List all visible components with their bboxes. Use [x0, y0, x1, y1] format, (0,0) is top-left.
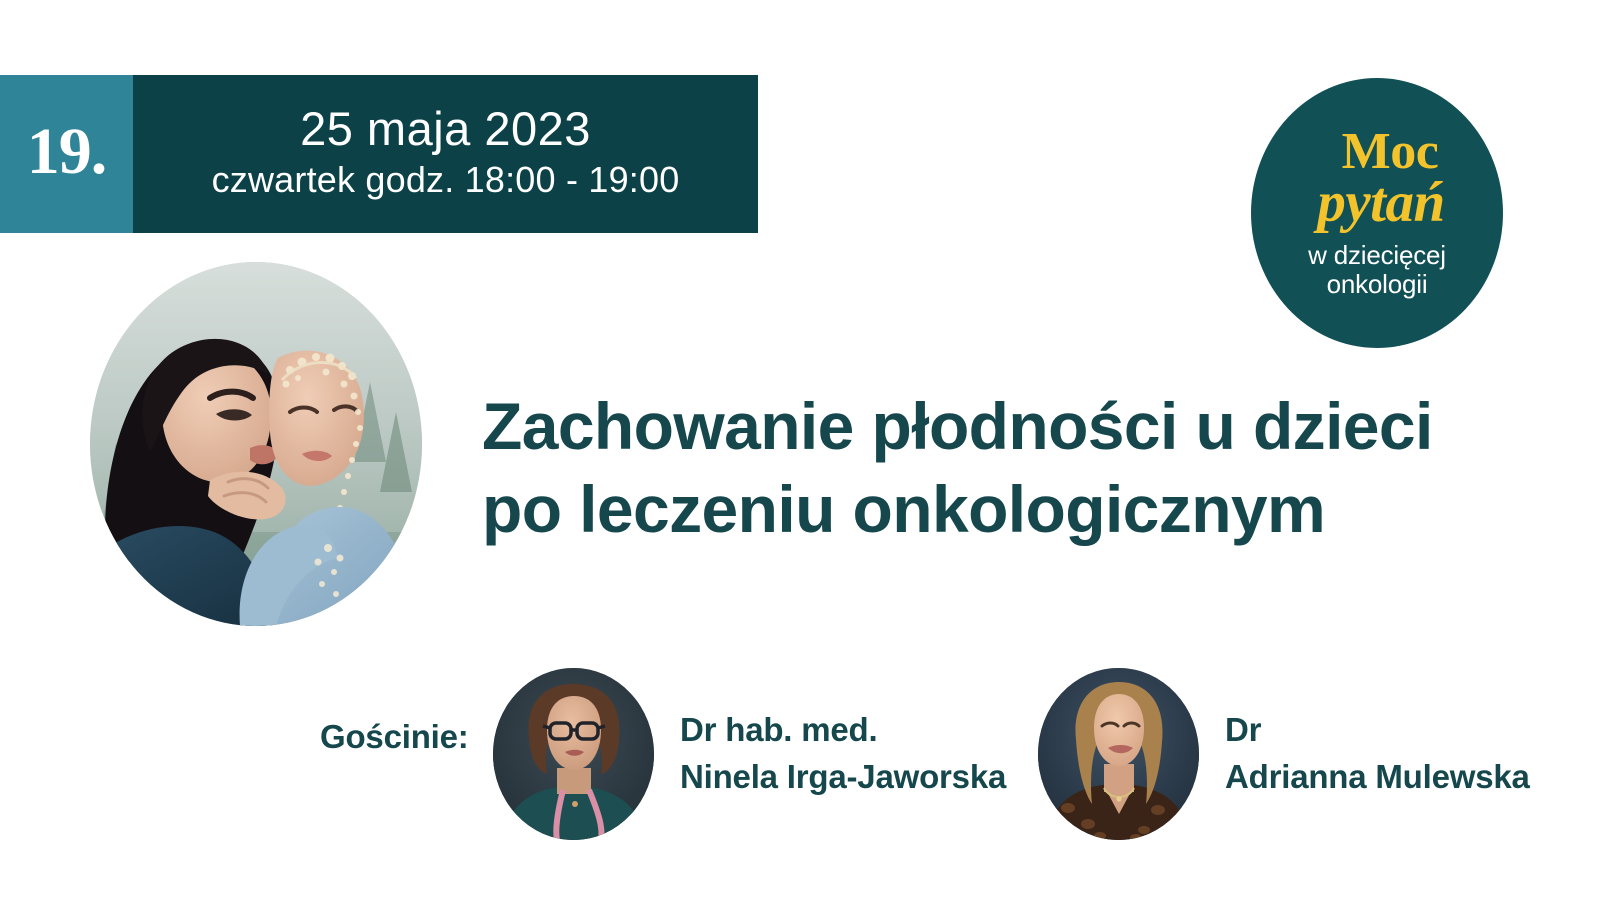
speaker-title-line: Dr hab. med.: [680, 707, 1006, 754]
brand-tagline-line-2: onkologii: [1327, 270, 1428, 299]
title-line-1: Zachowanie płodności u dzieci: [482, 385, 1542, 468]
page-title: Zachowanie płodności u dzieci po leczeni…: [482, 385, 1542, 550]
brand-word-moc: Moc: [1342, 127, 1439, 177]
avatar: [493, 668, 654, 840]
speaker-name: Dr Adrianna Mulewska: [1225, 707, 1530, 801]
title-line-2: po leczeniu onkologicznym: [482, 468, 1542, 551]
guests-label: Gościnie:: [320, 718, 469, 756]
speaker-name: Dr hab. med. Ninela Irga-Jaworska: [680, 707, 1006, 801]
hero-photo: [90, 262, 422, 626]
speaker-fullname-line: Ninela Irga-Jaworska: [680, 754, 1006, 801]
speaker-fullname-line: Adrianna Mulewska: [1225, 754, 1530, 801]
brand-word-pytan: pytań: [1317, 175, 1444, 231]
date-block: 25 maja 2023 czwartek godz. 18:00 - 19:0…: [133, 75, 758, 233]
date-banner: 19. 25 maja 2023 czwartek godz. 18:00 - …: [0, 75, 758, 233]
brand-tagline-line-1: w dziecięcej: [1308, 241, 1446, 270]
episode-number-badge: 19.: [0, 75, 133, 233]
speaker-entry: Dr hab. med. Ninela Irga-Jaworska: [493, 668, 1006, 840]
event-weekday-time: czwartek godz. 18:00 - 19:00: [212, 158, 680, 201]
speaker-title-line: Dr: [1225, 707, 1530, 754]
speaker-entry: Dr Adrianna Mulewska: [1038, 668, 1530, 840]
episode-number-text: 19.: [27, 119, 107, 185]
brand-logo: Moc pytań w dziecięcej onkologii: [1251, 78, 1503, 348]
webinar-poster: 19. 25 maja 2023 czwartek godz. 18:00 - …: [0, 0, 1600, 904]
avatar: [1038, 668, 1199, 840]
event-date: 25 maja 2023: [300, 103, 591, 156]
